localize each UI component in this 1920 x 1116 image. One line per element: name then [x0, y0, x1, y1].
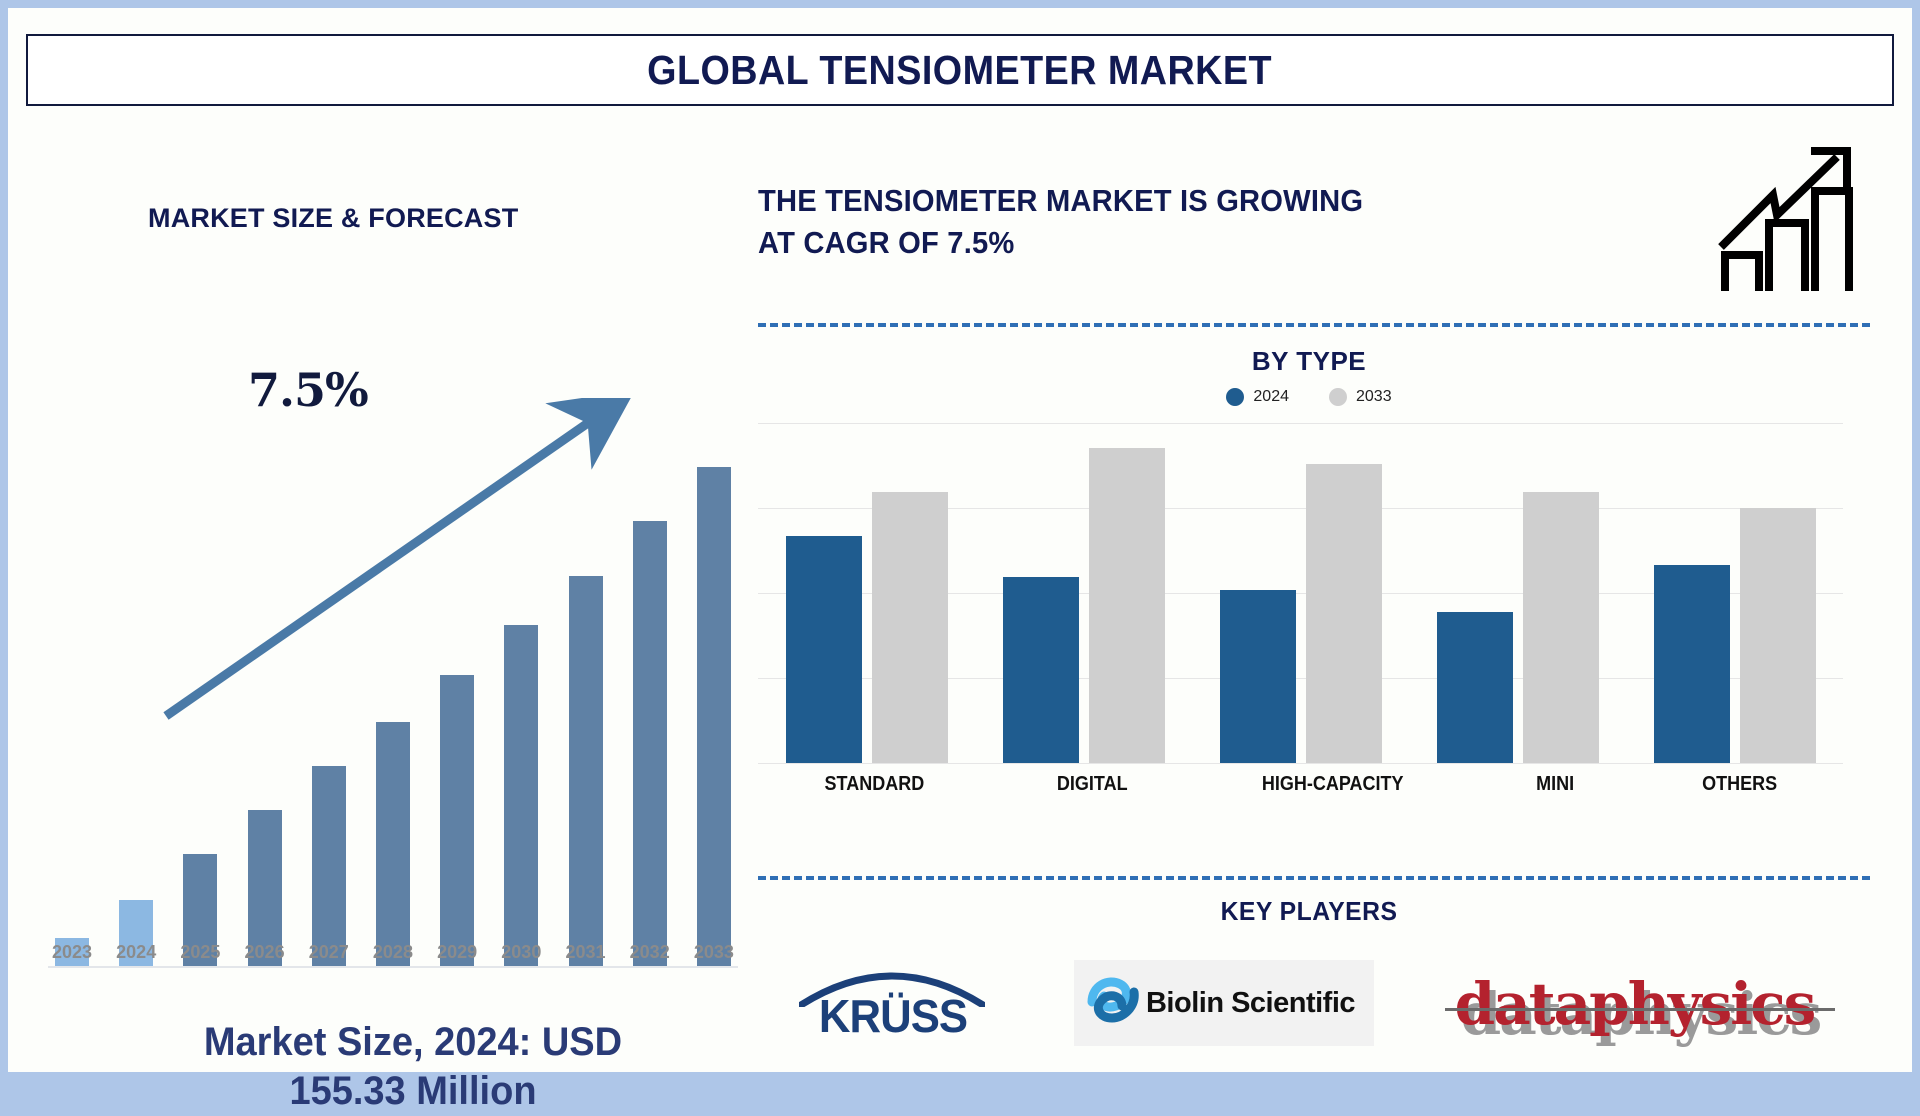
legend-label: 2024 — [1253, 388, 1289, 406]
bar-2024 — [1654, 565, 1730, 763]
bar-column — [690, 446, 738, 966]
bar-2024 — [1437, 612, 1513, 763]
by-type-title: BY TYPE — [753, 346, 1865, 377]
dataphysics-logo-text: dataphysics — [1455, 970, 1825, 1038]
biolin-swirl-icon — [1084, 972, 1144, 1034]
category-label: HIGH-CAPACITY — [1261, 773, 1403, 796]
bar-2033 — [1306, 464, 1382, 763]
key-players-logos: KRÜSS Biolin Scientific dataphysics data… — [753, 943, 1865, 1063]
bar-column — [497, 446, 545, 966]
market-size-heading: MARKET SIZE & FORECAST — [148, 203, 518, 234]
page-title-box: GLOBAL TENSIOMETER MARKET — [26, 34, 1894, 106]
biolin-logo-text: Biolin Scientific — [1146, 987, 1355, 1020]
legend-item-2024: 2024 — [1226, 388, 1289, 406]
category-label: STANDARD — [825, 773, 925, 796]
kruss-logo: KRÜSS — [793, 953, 993, 1053]
legend-dot-icon — [1226, 388, 1244, 406]
year-label: 2028 — [369, 942, 417, 963]
growth-headline-line2: AT CAGR OF 7.5% — [758, 222, 1604, 264]
biolin-scientific-logo: Biolin Scientific — [1074, 960, 1374, 1046]
key-players-title: KEY PLAYERS — [781, 896, 1837, 927]
bar-2033 — [1740, 508, 1816, 763]
legend-dot-icon — [1329, 388, 1347, 406]
by-type-bar-chart — [758, 423, 1843, 763]
bar-2024 — [786, 536, 862, 763]
year-label: 2031 — [562, 942, 610, 963]
year-label: 2027 — [305, 942, 353, 963]
bar-group-others — [1654, 423, 1816, 763]
year-label: 2023 — [48, 942, 96, 963]
by-type-bars — [758, 423, 1843, 763]
category-label: DIGITAL — [1056, 773, 1127, 796]
divider-bottom — [758, 876, 1870, 880]
bar-2024 — [1003, 577, 1079, 763]
by-type-category-labels: STANDARD DIGITAL HIGH-CAPACITY MINI OTHE… — [758, 773, 1843, 796]
year-label: 2026 — [241, 942, 289, 963]
market-size-year-labels: 2023 2024 2025 2026 2027 2028 2029 2030 … — [48, 942, 738, 963]
market-size-value-line1: Market Size, 2024: USD — [66, 1018, 760, 1067]
year-label: 2024 — [112, 942, 160, 963]
bar-group-digital — [1003, 423, 1165, 763]
market-size-value-line2: 155.33 Million — [66, 1067, 760, 1116]
year-label: 2032 — [626, 942, 674, 963]
growth-bar-chart-arrow-icon — [1715, 143, 1855, 293]
bar-column — [112, 446, 160, 966]
dataphysics-strike-line — [1445, 1008, 1835, 1011]
kruss-logo-text: KRÜSS — [798, 989, 988, 1043]
by-type-legend: 2024 2033 — [753, 388, 1865, 406]
bar-column — [241, 446, 289, 966]
bar-column — [305, 446, 353, 966]
market-size-panel: MARKET SIZE & FORECAST 7.5% — [8, 118, 768, 1068]
growth-headline-line1: THE TENSIOMETER MARKET IS GROWING — [758, 180, 1604, 222]
bar-group-mini — [1437, 423, 1599, 763]
market-size-value: Market Size, 2024: USD 155.33 Million — [66, 1018, 760, 1116]
bar-column — [176, 446, 224, 966]
bar-column — [433, 446, 481, 966]
divider-top — [758, 323, 1870, 327]
bar-group-high-capacity — [1220, 423, 1382, 763]
page-title: GLOBAL TENSIOMETER MARKET — [648, 47, 1273, 94]
category-label: MINI — [1536, 773, 1574, 796]
bar-column — [369, 446, 417, 966]
by-type-panel: THE TENSIOMETER MARKET IS GROWING AT CAG… — [753, 118, 1903, 1068]
market-size-bar-chart: 2023 2024 2025 2026 2027 2028 2029 2030 … — [48, 418, 738, 968]
bar-2033 — [1089, 448, 1165, 763]
bar-column — [562, 446, 610, 966]
growth-headline: THE TENSIOMETER MARKET IS GROWING AT CAG… — [758, 180, 1604, 264]
legend-item-2033: 2033 — [1329, 388, 1392, 406]
year-label: 2033 — [690, 942, 738, 963]
year-label: 2025 — [176, 942, 224, 963]
legend-label: 2033 — [1356, 388, 1392, 406]
bar-column — [48, 446, 96, 966]
year-label: 2029 — [433, 942, 481, 963]
dataphysics-logo: dataphysics dataphysics — [1455, 958, 1825, 1048]
bar-column — [626, 446, 674, 966]
bar-2033 — [1523, 492, 1599, 763]
market-size-bars — [48, 446, 738, 968]
year-label: 2030 — [497, 942, 545, 963]
infographic-page: GLOBAL TENSIOMETER MARKET MARKET SIZE & … — [8, 8, 1912, 1072]
bar-group-standard — [786, 423, 948, 763]
bar-2033 — [872, 492, 948, 763]
category-label: OTHERS — [1702, 773, 1777, 796]
bar-2024 — [1220, 590, 1296, 763]
